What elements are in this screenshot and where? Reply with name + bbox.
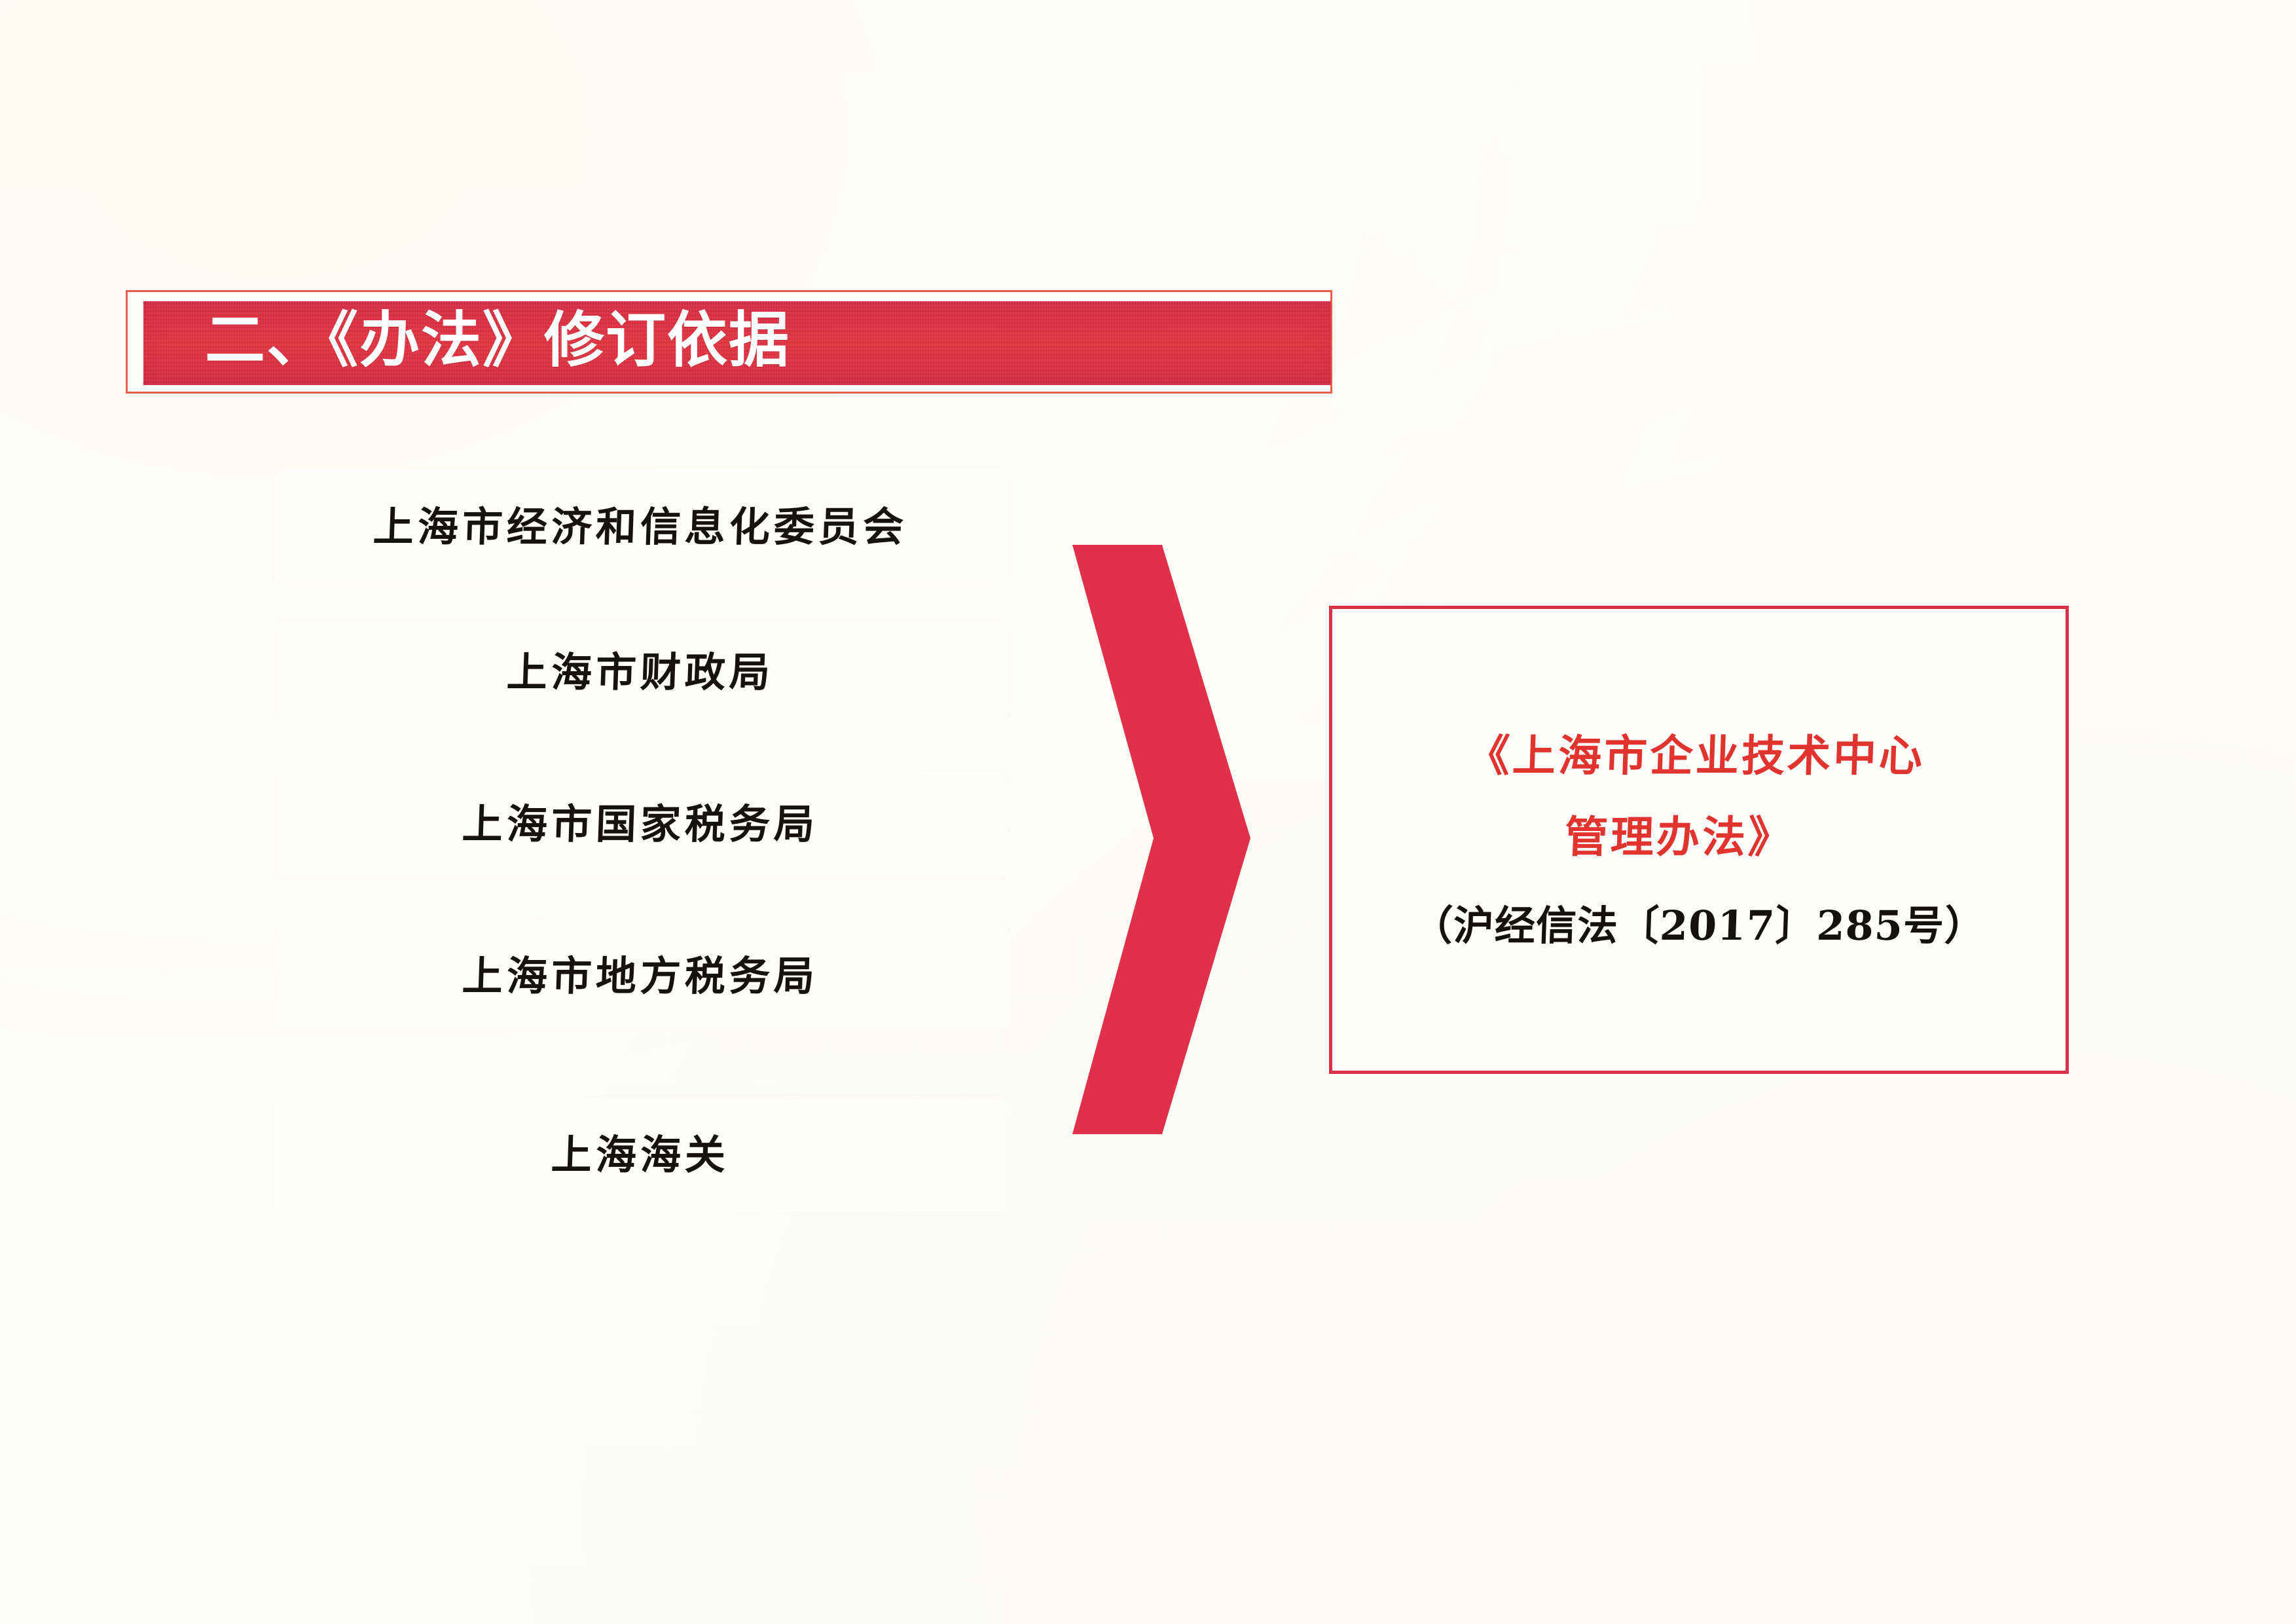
agency-box-2: 上海市财政局 (275, 622, 1006, 723)
agency-label: 上海市地方税务局 (462, 956, 819, 997)
chevron-right-shape (1061, 545, 1250, 1134)
section-banner: 二、《办法》修订依据 (126, 290, 1332, 394)
agency-label: 上海市财政局 (506, 652, 774, 693)
result-title-line-2: 管理办法》 (1564, 815, 1795, 858)
agency-label: 上海海关 (551, 1135, 730, 1175)
slide-canvas: 二、《办法》修订依据 上海市经济和信息化委员会 上海市财政局 上海市国家税务局 … (0, 0, 2296, 1624)
agency-box-5: 上海海关 (275, 1099, 1006, 1211)
result-document-number: （沪经信法〔2017〕285号） (1412, 906, 1986, 946)
agency-label: 上海市国家税务局 (462, 804, 819, 845)
agency-box-1: 上海市经济和信息化委员会 (275, 470, 1006, 585)
result-document-box: 《上海市企业技术中心 管理办法》 （沪经信法〔2017〕285号） (1329, 606, 2069, 1074)
agency-box-3: 上海市国家税务局 (275, 771, 1006, 877)
section-title: 二、《办法》修订依据 (205, 310, 790, 371)
agency-label: 上海市经济和信息化委员会 (373, 507, 908, 547)
chevron-right-icon (1061, 545, 1250, 1134)
agency-box-4: 上海市地方税务局 (275, 922, 1006, 1030)
result-title-line-1: 《上海市企业技术中心 (1466, 734, 1925, 777)
